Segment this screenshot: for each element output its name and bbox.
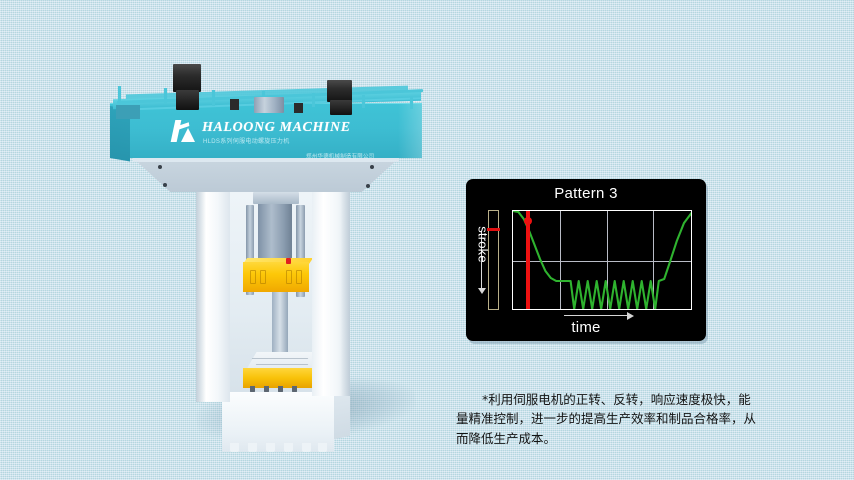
caption-block: *利用伺服电机的正转、反转，响应速度极快，能 量精准控制，进一步的提高生产效率和… xyxy=(456,390,812,448)
chart-cursor-marker[interactable] xyxy=(524,217,532,225)
lower-bolster xyxy=(243,368,313,388)
roof-small-block-left xyxy=(230,99,239,110)
shoulder-bolt xyxy=(158,165,162,169)
roof-railing-post xyxy=(164,88,167,104)
company-name-text: 郑州华德机械制造有限公司 xyxy=(306,152,374,160)
bed-foot xyxy=(302,443,311,452)
roof-motor-left-lower xyxy=(176,90,199,110)
bed-foot xyxy=(318,443,327,452)
chart-stroke-trace xyxy=(513,211,692,310)
roof-railing-post xyxy=(312,93,315,107)
machine-shoulder-plate xyxy=(133,158,399,192)
caption-line-2: 量精准控制，进一步的提高生产效率和制品合格率，从 xyxy=(456,409,812,428)
bed-foot xyxy=(248,443,257,452)
die-seam-1 xyxy=(252,358,309,359)
time-axis-arrow-icon xyxy=(564,315,628,316)
shoulder-bolt xyxy=(163,183,167,187)
machine-bed xyxy=(222,392,334,452)
roof-railing-post xyxy=(362,95,365,108)
machine-column-front-left-shade xyxy=(196,190,206,402)
machine-column-front-right-shade xyxy=(340,190,350,396)
slide-indicator-light xyxy=(286,258,291,264)
ram-cylinder-cap xyxy=(253,192,299,204)
caption-line-1: *利用伺服电机的正转、反转，响应速度极快，能 xyxy=(456,390,812,409)
press-machine-illustration: HALOONG MACHINE HLDS系列伺服电动螺旋压力机 郑州华德机械制造… xyxy=(0,0,460,480)
screenshot-root: HALOONG MACHINE HLDS系列伺服电动螺旋压力机 郑州华德机械制造… xyxy=(0,0,854,480)
bed-foot xyxy=(230,443,239,452)
roof-drum-unit xyxy=(254,97,284,113)
stroke-time-chart-panel: Pattern 3 stroke time xyxy=(466,179,706,341)
roof-small-block-right xyxy=(294,103,303,113)
brand-logo-text: HALOONG MACHINE xyxy=(202,120,351,136)
caption-line-3: 而降低生产成本。 xyxy=(456,429,812,448)
haloong-logo-icon xyxy=(172,120,196,142)
roof-motor-right-lower xyxy=(330,100,352,115)
roof-railing-post xyxy=(118,86,121,102)
chart-plot-area xyxy=(512,210,692,310)
shoulder-bolt xyxy=(370,165,374,169)
roof-railing-post xyxy=(410,97,413,109)
die-seam-2 xyxy=(256,364,309,365)
chart-y-axis-label: stroke xyxy=(476,216,491,274)
chart-title: Pattern 3 xyxy=(466,185,706,202)
brand-subtitle-text: HLDS系列伺服电动螺旋压力机 xyxy=(203,136,290,145)
chart-time-cursor[interactable] xyxy=(526,211,530,309)
chart-x-axis-label: time xyxy=(466,319,706,336)
bed-foot xyxy=(266,443,275,452)
machine-crown-highlight xyxy=(398,104,422,158)
shoulder-bolt xyxy=(366,184,370,188)
roof-railing-post xyxy=(212,90,215,106)
roof-motor-right-upper xyxy=(327,80,352,102)
bed-foot xyxy=(284,443,293,452)
roof-motor-left-upper xyxy=(173,64,201,92)
slide-upper-detail xyxy=(250,268,302,286)
roof-ladder-block xyxy=(116,105,140,119)
